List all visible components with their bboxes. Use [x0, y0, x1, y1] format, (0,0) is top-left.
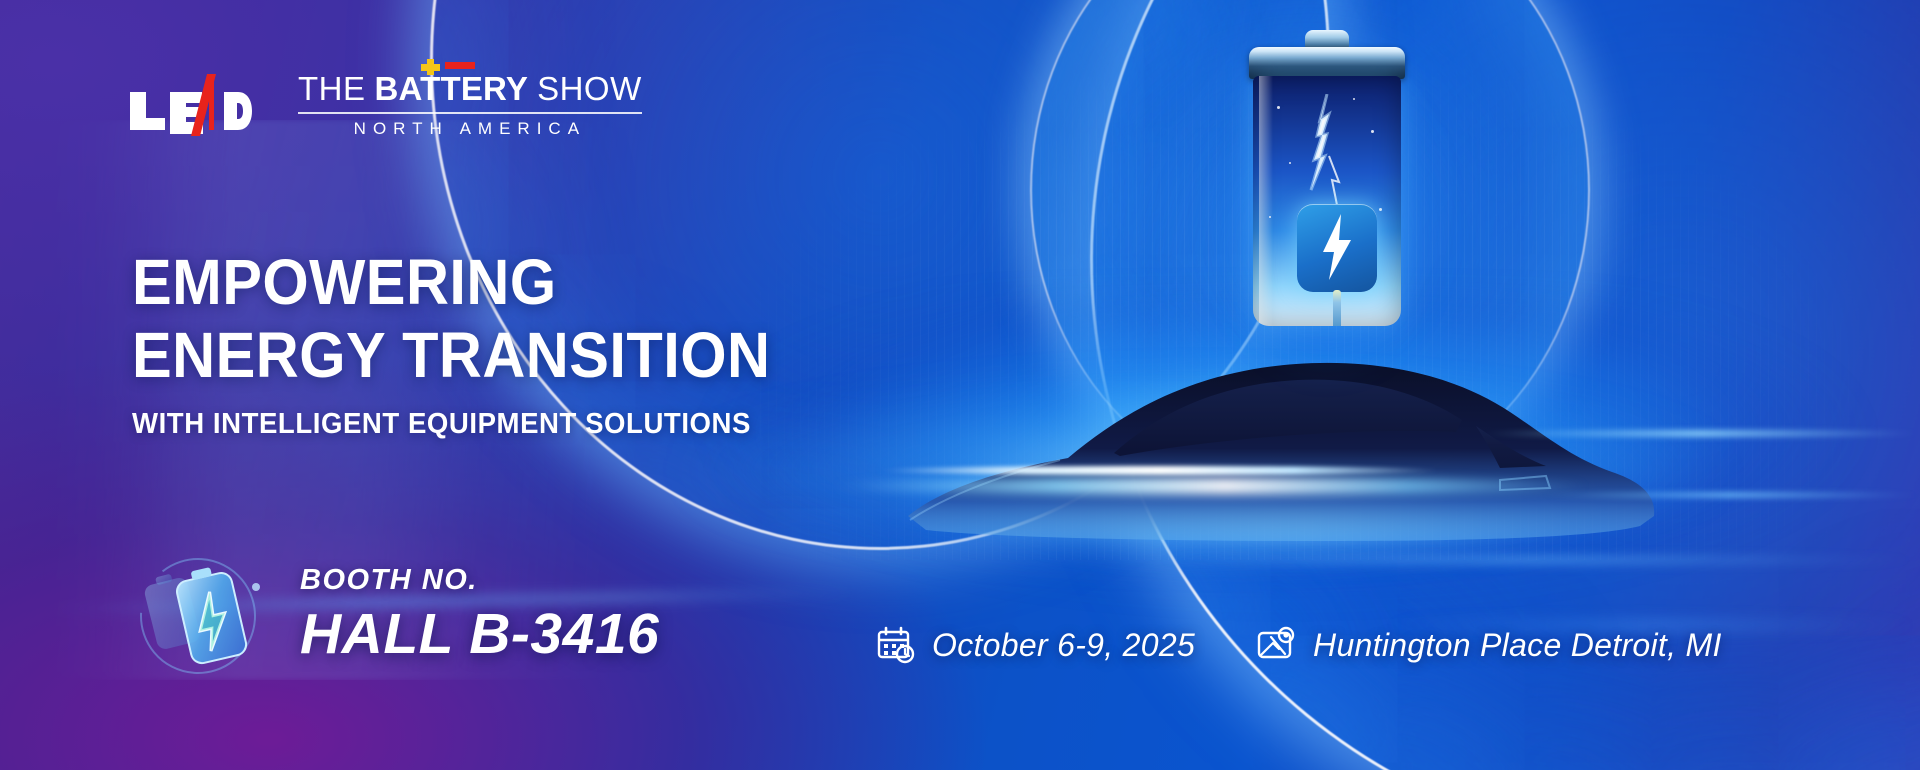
booth-label: BOOTH NO. — [300, 564, 659, 597]
battery-cap — [1249, 47, 1405, 79]
headline-line-2: ENERGY TRANSITION — [132, 319, 770, 392]
event-venue: Huntington Place Detroit, MI — [1313, 627, 1722, 664]
show-logo-region: NORTH AMERICA — [298, 120, 642, 137]
logo-divider — [298, 112, 642, 114]
show-logo-prefix: THE — [298, 72, 366, 105]
lightning-bolt-icon — [1317, 214, 1357, 280]
light-streak — [830, 478, 1590, 494]
promo-banner: THE BATTERY SHOW NORTH AMERICA EMPOWERIN… — [0, 0, 1920, 770]
battery-show-logo[interactable]: THE BATTERY SHOW NORTH AMERICA — [298, 72, 642, 137]
light-streak — [880, 466, 1440, 475]
charge-cord — [1333, 290, 1341, 326]
battery-body — [1253, 76, 1401, 326]
headline-subtitle: WITH INTELLIGENT EQUIPMENT SOLUTIONS — [132, 408, 784, 441]
lead-slash-logo[interactable] — [128, 74, 252, 136]
light-streak — [1540, 492, 1920, 498]
calendar-clock-icon — [876, 625, 916, 665]
light-streak — [1480, 430, 1920, 437]
event-date-item: October 6-9, 2025 — [876, 625, 1195, 665]
light-streak — [1150, 556, 1920, 564]
booth-number: HALL B-3416 — [300, 601, 659, 667]
headline-block: EMPOWERING ENERGY TRANSITION WITH INTELL… — [132, 246, 819, 441]
charge-indicator — [1297, 204, 1377, 292]
charging-battery-cylinder — [1243, 30, 1411, 330]
booth-block: BOOTH NO. HALL B-3416 — [128, 540, 659, 690]
battery-bolt-icon — [128, 540, 278, 690]
show-logo-highlight: BATTERY — [375, 72, 529, 105]
map-pin-icon — [1257, 625, 1297, 665]
event-date: October 6-9, 2025 — [932, 627, 1195, 664]
event-venue-item: Huntington Place Detroit, MI — [1257, 625, 1722, 665]
booth-text: BOOTH NO. HALL B-3416 — [300, 564, 659, 667]
brand-row: THE BATTERY SHOW NORTH AMERICA — [128, 72, 642, 137]
show-logo-suffix: SHOW — [537, 72, 642, 105]
plus-minus-icons — [419, 59, 481, 75]
headline-line-1: EMPOWERING — [132, 246, 770, 319]
event-meta-row: October 6-9, 2025 Huntington Place Detro… — [876, 625, 1722, 665]
